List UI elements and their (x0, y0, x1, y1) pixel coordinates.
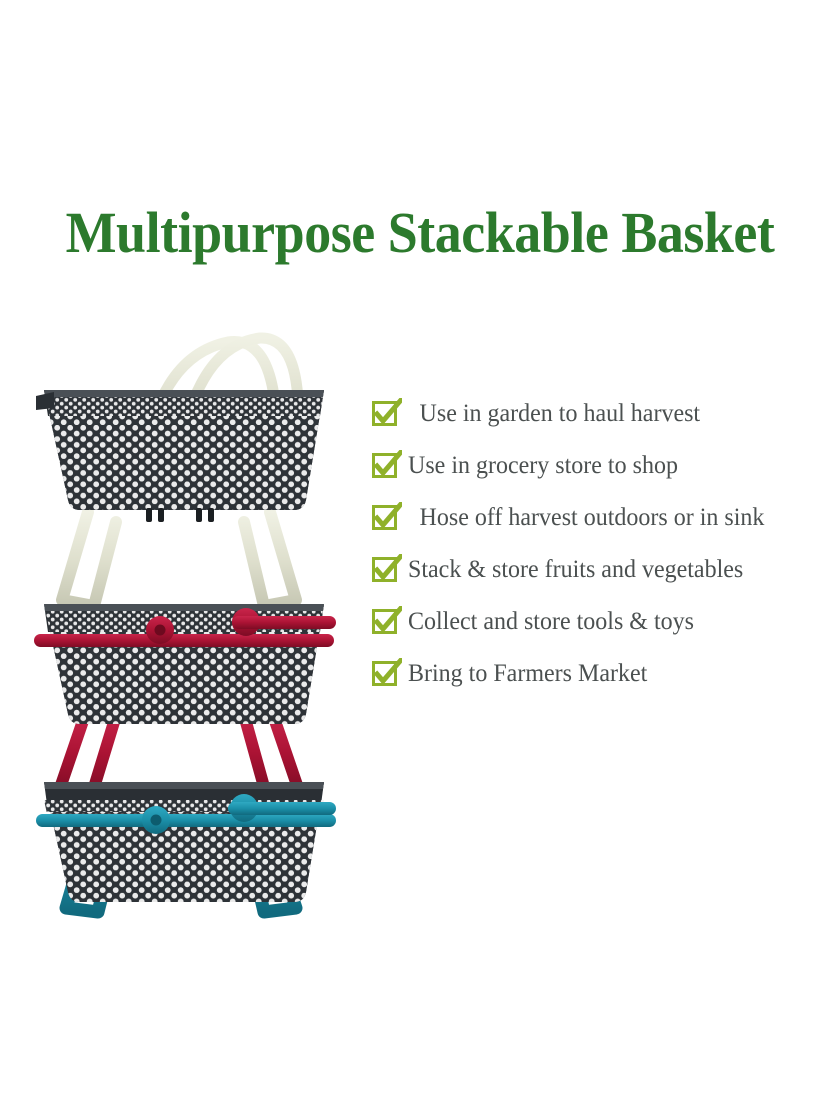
checkbox-checked-icon (370, 398, 402, 430)
feature-list: Use in garden to haul harvest Use in gro… (370, 388, 838, 700)
checkbox-checked-icon (370, 502, 402, 534)
page-title: Multipurpose Stackable Basket (29, 199, 810, 267)
feature-label: Stack & store fruits and vegetables (408, 555, 743, 585)
feature-item-3: Stack & store fruits and vegetables (370, 544, 838, 596)
leg-cream-right (244, 512, 296, 606)
feature-label: Bring to Farmers Market (408, 659, 647, 689)
product-infographic: Multipurpose Stackable Basket (0, 0, 840, 1120)
checkbox-checked-icon (370, 554, 402, 586)
feature-label: Collect and store tools & toys (408, 607, 694, 637)
leg-red-right (246, 712, 298, 794)
checkbox-checked-icon (370, 658, 402, 690)
feature-item-2: Hose off harvest outdoors or in sink (370, 492, 838, 544)
feature-label: Use in grocery store to shop (408, 451, 678, 481)
checkbox-checked-icon (370, 450, 402, 482)
feature-item-5: Bring to Farmers Market (370, 648, 838, 700)
product-image (28, 312, 358, 922)
feature-item-0: Use in garden to haul harvest (370, 388, 838, 440)
feature-item-4: Collect and store tools & toys (370, 596, 838, 648)
basket-top (36, 338, 324, 522)
feature-label: Use in garden to haul harvest (408, 399, 700, 429)
checkbox-checked-icon (370, 606, 402, 638)
feature-label: Hose off harvest outdoors or in sink (408, 503, 764, 533)
feature-item-1: Use in grocery store to shop (370, 440, 838, 492)
basket-bottom (36, 712, 336, 912)
basket-middle (34, 512, 336, 724)
leg-cream-left (62, 512, 116, 606)
leg-red-left (60, 712, 114, 794)
